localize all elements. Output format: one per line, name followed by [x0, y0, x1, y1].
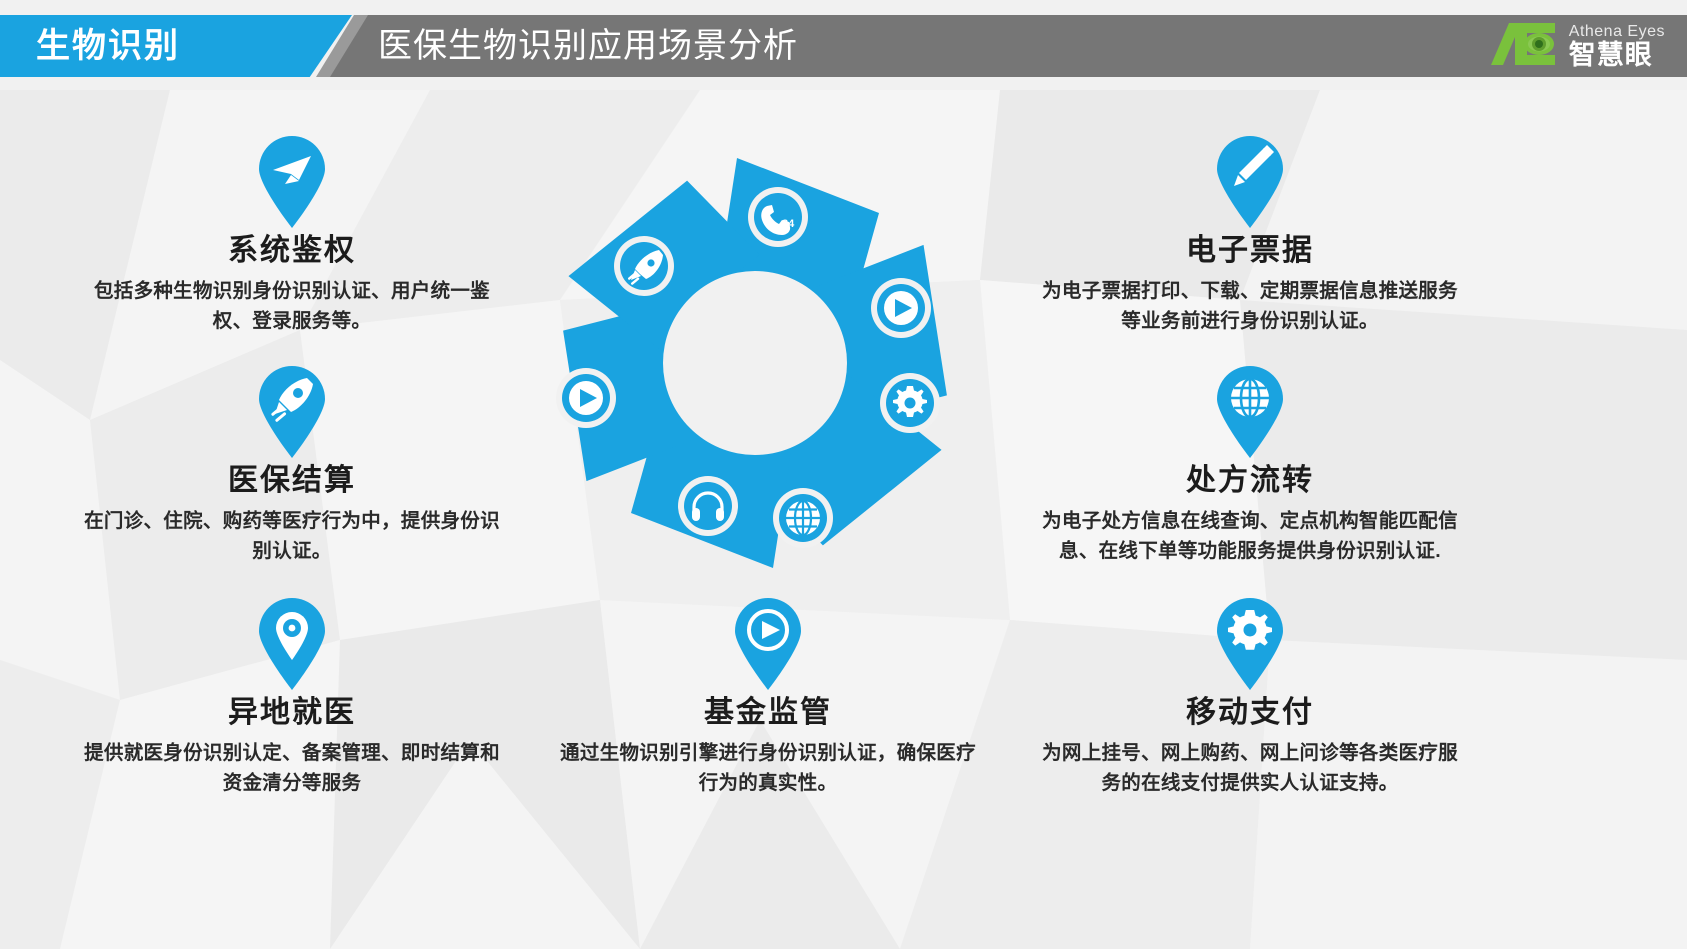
- feature-item-mobile-payment: 移动支付 为网上挂号、网上购药、网上问诊等各类医疗服务的在线支付提供实人认证支持…: [1030, 598, 1470, 798]
- hexagon-pinwheel-diagram: 24: [520, 128, 990, 598]
- feature-item-prescription-circulation: 处方流转 为电子处方信息在线查询、定点机构智能匹配信息、在线下单等功能服务提供身…: [1030, 366, 1470, 566]
- feature-title: 异地就医: [72, 694, 512, 732]
- badge-globe: [773, 488, 833, 548]
- pin-marker: [1213, 598, 1287, 690]
- svg-text:24: 24: [782, 218, 795, 230]
- feature-item-offsite-medical-treatment: 异地就医 提供就医身份识别认定、备案管理、即时结算和资金清分等服务: [72, 598, 512, 798]
- badge-gear: [880, 373, 940, 433]
- feature-title: 基金监管: [548, 694, 988, 732]
- badge-rocket: [614, 236, 674, 296]
- brand-logo-text: Athena Eyes 智慧眼: [1569, 24, 1665, 69]
- athena-eyes-mark-icon: [1469, 21, 1561, 72]
- pin-marker: [255, 136, 329, 228]
- feature-title: 移动支付: [1030, 694, 1470, 732]
- feature-title: 电子票据: [1030, 232, 1470, 270]
- slide-root: 生物识别 医保生物识别应用场景分析 Athena Eyes 智慧眼: [0, 0, 1687, 949]
- globe-icon: [1231, 379, 1269, 417]
- badge-play-left: [556, 368, 616, 428]
- page-title: 医保生物识别应用场景分析: [378, 22, 798, 70]
- brand-logo-en: Athena Eyes: [1569, 24, 1665, 40]
- brand-logo: Athena Eyes 智慧眼: [1469, 18, 1665, 74]
- feature-item-fund-supervision: 基金监管 通过生物识别引擎进行身份识别认证，确保医疗行为的真实性。: [548, 598, 988, 798]
- pin-marker: [1213, 136, 1287, 228]
- pinwheel-core: [663, 271, 847, 455]
- header-tag-label: 生物识别: [36, 22, 180, 70]
- pin-marker: [255, 366, 329, 458]
- brand-logo-cn: 智慧眼: [1569, 42, 1665, 69]
- feature-item-medical-insurance-settlement: 医保结算 在门诊、住院、购药等医疗行为中，提供身份识别认证。: [72, 366, 512, 566]
- header-bar: 生物识别 医保生物识别应用场景分析 Athena Eyes 智慧眼: [0, 0, 1687, 92]
- feature-desc: 为电子票据打印、下载、定期票据信息推送服务等业务前进行身份识别认证。: [1030, 276, 1470, 336]
- gear-icon: [1228, 610, 1272, 650]
- gear-icon: [893, 386, 927, 417]
- badge-phone-24h: 24: [748, 187, 808, 247]
- feature-title: 处方流转: [1030, 462, 1470, 500]
- feature-desc: 为电子处方信息在线查询、定点机构智能匹配信息、在线下单等功能服务提供身份识别认证…: [1030, 506, 1470, 566]
- feature-desc: 包括多种生物识别身份识别认证、用户统一鉴权、登录服务等。: [72, 276, 512, 336]
- pin-marker: [1213, 366, 1287, 458]
- badge-headphones: [678, 476, 738, 536]
- feature-item-system-auth: 系统鉴权 包括多种生物识别身份识别认证、用户统一鉴权、登录服务等。: [72, 136, 512, 336]
- badge-play-right: [871, 278, 931, 338]
- pin-marker: [255, 598, 329, 690]
- feature-desc: 通过生物识别引擎进行身份识别认证，确保医疗行为的真实性。: [548, 738, 988, 798]
- feature-desc: 为网上挂号、网上购药、网上问诊等各类医疗服务的在线支付提供实人认证支持。: [1030, 738, 1470, 798]
- feature-desc: 提供就医身份识别认定、备案管理、即时结算和资金清分等服务: [72, 738, 512, 798]
- pin-marker: [731, 598, 805, 690]
- feature-desc: 在门诊、住院、购药等医疗行为中，提供身份识别认证。: [72, 506, 512, 566]
- feature-title: 系统鉴权: [72, 232, 512, 270]
- feature-title: 医保结算: [72, 462, 512, 500]
- feature-item-electronic-bill: 电子票据 为电子票据打印、下载、定期票据信息推送服务等业务前进行身份识别认证。: [1030, 136, 1470, 336]
